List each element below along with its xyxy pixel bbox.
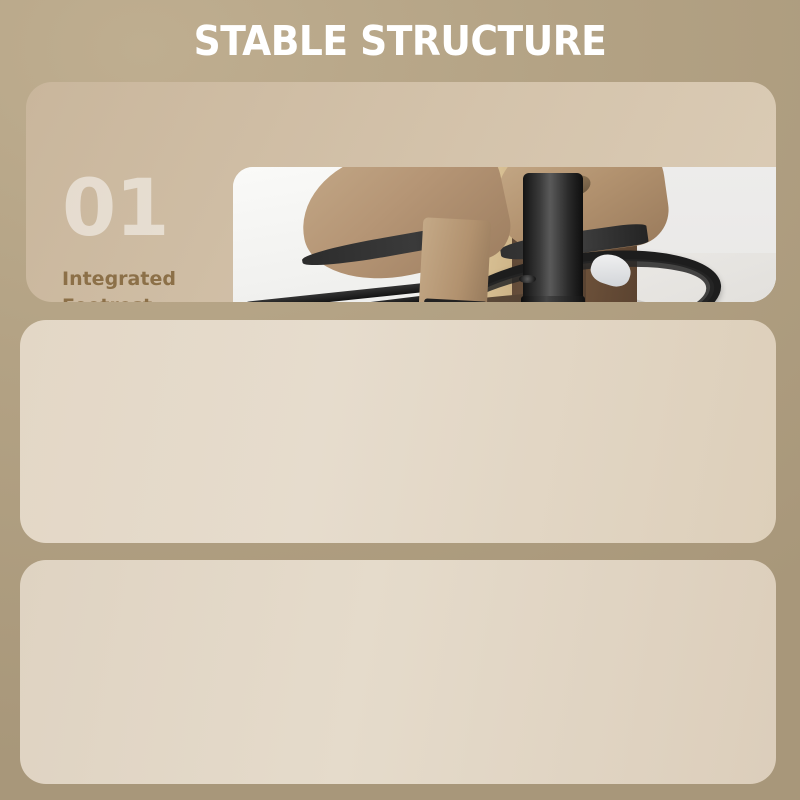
page-title: STABLE STRUCTURE bbox=[0, 20, 800, 62]
feature-card-01: 01 Integrated Footrest bbox=[26, 82, 776, 302]
column-bolt bbox=[519, 275, 536, 284]
gas-lift-column bbox=[523, 173, 583, 302]
feature-label-01: Integrated Footrest bbox=[62, 266, 230, 302]
feature-image-footrest bbox=[233, 167, 776, 302]
boot-heel bbox=[418, 217, 491, 302]
feature-card-02: 02 Carbon Steel Frame bbox=[20, 320, 776, 543]
feature-text-01: 01 Integrated Footrest bbox=[62, 170, 230, 302]
column-band bbox=[521, 296, 585, 302]
feature-number-01: 01 bbox=[62, 170, 230, 248]
feature-card-03: 03 Anti-Slip Rubber Ring bbox=[20, 560, 776, 784]
infographic-page: STABLE STRUCTURE bbox=[0, 0, 800, 800]
